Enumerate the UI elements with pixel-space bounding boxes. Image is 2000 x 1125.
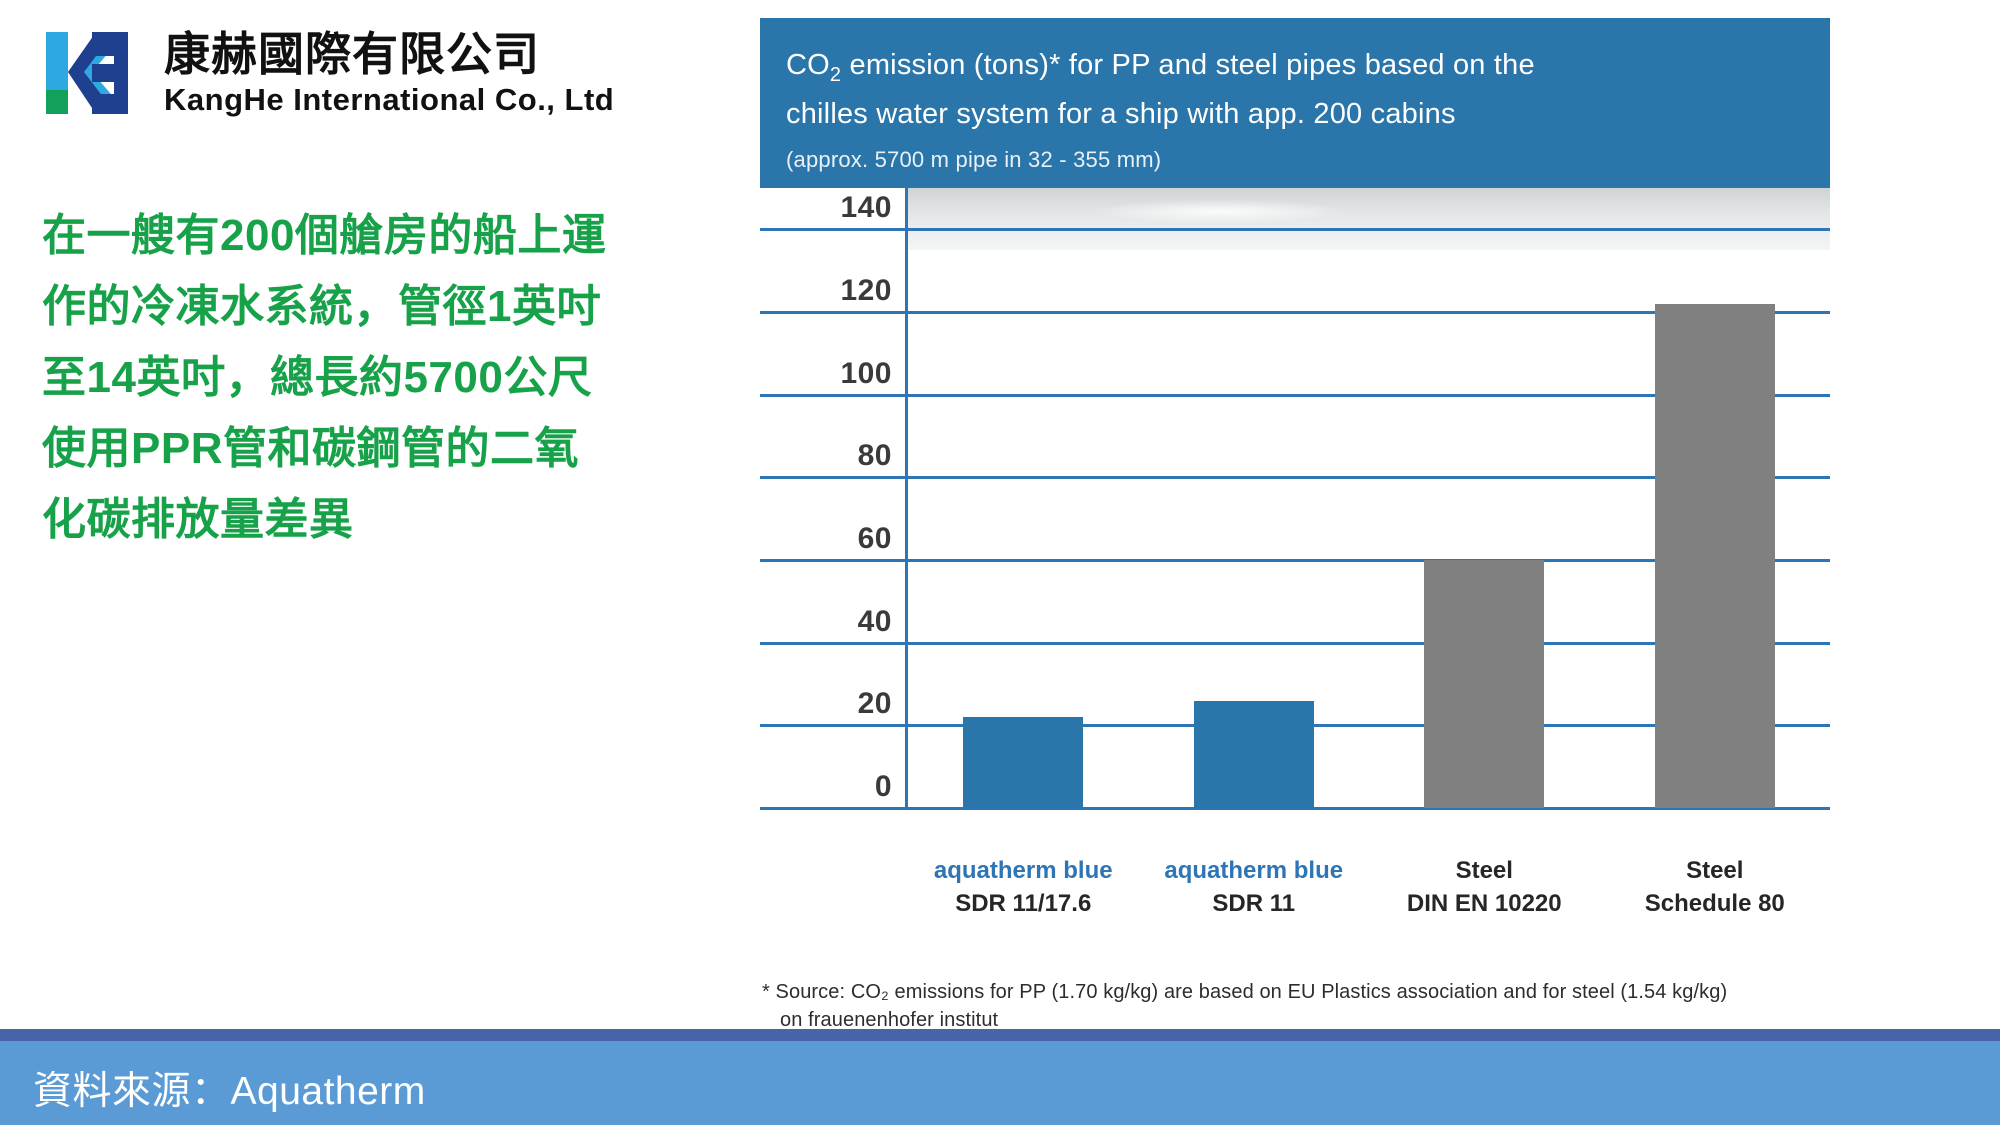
y-tick-label-20: 20 bbox=[780, 687, 892, 721]
y-tick-label-140: 140 bbox=[780, 191, 892, 225]
x-axis-label-3-line2: Schedule 80 bbox=[1600, 887, 1831, 920]
bar-1 bbox=[1194, 701, 1314, 808]
y-tick-label-120: 120 bbox=[780, 274, 892, 308]
chart-plot-area: 140120100806040200 bbox=[760, 188, 1830, 838]
x-axis-label-1: aquatherm blueSDR 11 bbox=[1139, 854, 1370, 920]
chart-header-banner: CO2 emission (tons)* for PP and steel pi… bbox=[760, 18, 1830, 188]
brand-logo-block: 康赫國際有限公司 KangHe International Co., Ltd bbox=[36, 20, 614, 125]
x-axis-label-2: SteelDIN EN 10220 bbox=[1369, 854, 1600, 920]
y-tick-label-0: 0 bbox=[780, 770, 892, 804]
description-line-3: 至14英吋，總長約5700公尺 bbox=[42, 342, 722, 413]
y-tick-label-40: 40 bbox=[780, 605, 892, 639]
x-axis-label-0: aquatherm blueSDR 11/17.6 bbox=[908, 854, 1139, 920]
description-line-5: 化碳排放量差異 bbox=[42, 484, 722, 555]
chart-x-axis-labels: aquatherm blueSDR 11/17.6aquatherm blueS… bbox=[908, 854, 1830, 920]
x-axis-label-1-line1: aquatherm blue bbox=[1139, 854, 1370, 887]
chart-footnote: * Source: CO₂ emissions for PP (1.70 kg/… bbox=[760, 978, 1832, 1034]
description-line-1: 在一艘有200個艙房的船上運 bbox=[42, 200, 722, 271]
bar-3 bbox=[1655, 304, 1775, 808]
x-axis-label-2-line1: Steel bbox=[1369, 854, 1600, 887]
company-name-en: KangHe International Co., Ltd bbox=[164, 84, 614, 115]
x-axis-label-2-line2: DIN EN 10220 bbox=[1369, 887, 1600, 920]
chart-subtitle: (approx. 5700 m pipe in 32 - 355 mm) bbox=[786, 147, 1804, 173]
chart-title-co: CO bbox=[786, 49, 830, 81]
chart-card: CO2 emission (tons)* for PP and steel pi… bbox=[760, 18, 1830, 1018]
x-axis-label-0-line1: aquatherm blue bbox=[908, 854, 1139, 887]
footer-source-text: 資料來源：Aquatherm bbox=[33, 1060, 426, 1116]
chart-bars bbox=[908, 188, 1830, 808]
chart-title-line2: chilles water system for a ship with app… bbox=[786, 98, 1456, 130]
x-axis-label-3: SteelSchedule 80 bbox=[1600, 854, 1831, 920]
x-axis-label-1-line2: SDR 11 bbox=[1139, 887, 1370, 920]
brand-wordmark: 康赫國際有限公司 KangHe International Co., Ltd bbox=[164, 31, 614, 115]
y-tick-label-60: 60 bbox=[780, 522, 892, 556]
y-tick-label-100: 100 bbox=[780, 357, 892, 391]
bar-2 bbox=[1424, 560, 1544, 808]
chart-title-subscript: 2 bbox=[830, 64, 841, 86]
footer-rule bbox=[0, 1029, 2000, 1041]
description-line-2: 作的冷凍水系統，管徑1英吋 bbox=[42, 271, 722, 342]
left-content-panel: 康赫國際有限公司 KangHe International Co., Ltd 在… bbox=[0, 0, 760, 1030]
description-paragraph: 在一艘有200個艙房的船上運 作的冷凍水系統，管徑1英吋 至14英吋，總長約57… bbox=[42, 200, 722, 555]
bar-0 bbox=[963, 717, 1083, 808]
x-axis-label-3-line1: Steel bbox=[1600, 854, 1831, 887]
company-name-cn: 康赫國際有限公司 bbox=[164, 31, 614, 77]
chart-title: CO2 emission (tons)* for PP and steel pi… bbox=[786, 46, 1804, 134]
y-tick-label-80: 80 bbox=[780, 439, 892, 473]
footnote-line-1: * Source: CO₂ emissions for PP (1.70 kg/… bbox=[762, 981, 1727, 1003]
x-axis-label-0-line2: SDR 11/17.6 bbox=[908, 887, 1139, 920]
chart-title-line1-rest: emission (tons)* for PP and steel pipes … bbox=[841, 49, 1535, 81]
kh-monogram-logo-icon bbox=[36, 20, 146, 125]
description-line-4: 使用PPR管和碳鋼管的二氧 bbox=[42, 413, 722, 484]
